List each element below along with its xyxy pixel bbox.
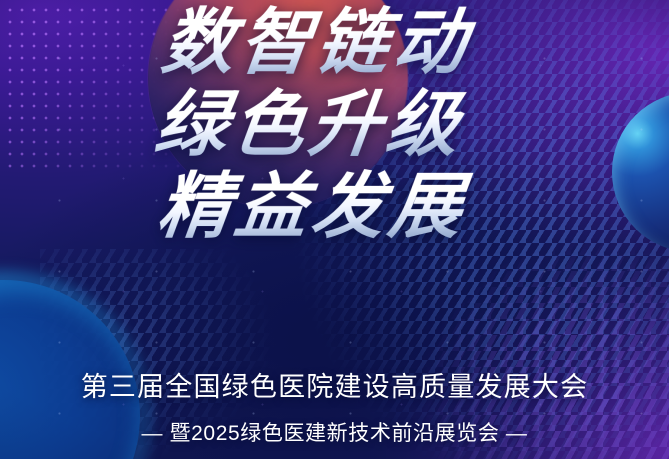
conference-poster-banner: 数智链动 绿色升级 精益发展 第三届全国绿色医院建设高质量发展大会 — 暨202… [0,0,669,459]
poster-subtitle-main: 第三届全国绿色医院建设高质量发展大会 [0,370,669,404]
poster-subtitle-secondary: — 暨2025绿色医建新技术前沿展览会 — [0,420,669,447]
poster-title-line-3: 精益发展 [0,166,669,248]
poster-title-block: 数智链动 绿色升级 精益发展 [0,2,669,248]
poster-title-line-1: 数智链动 [0,2,669,84]
poster-subtitle-block: 第三届全国绿色医院建设高质量发展大会 — 暨2025绿色医建新技术前沿展览会 — [0,370,669,447]
poster-title-line-2: 绿色升级 [0,84,669,166]
